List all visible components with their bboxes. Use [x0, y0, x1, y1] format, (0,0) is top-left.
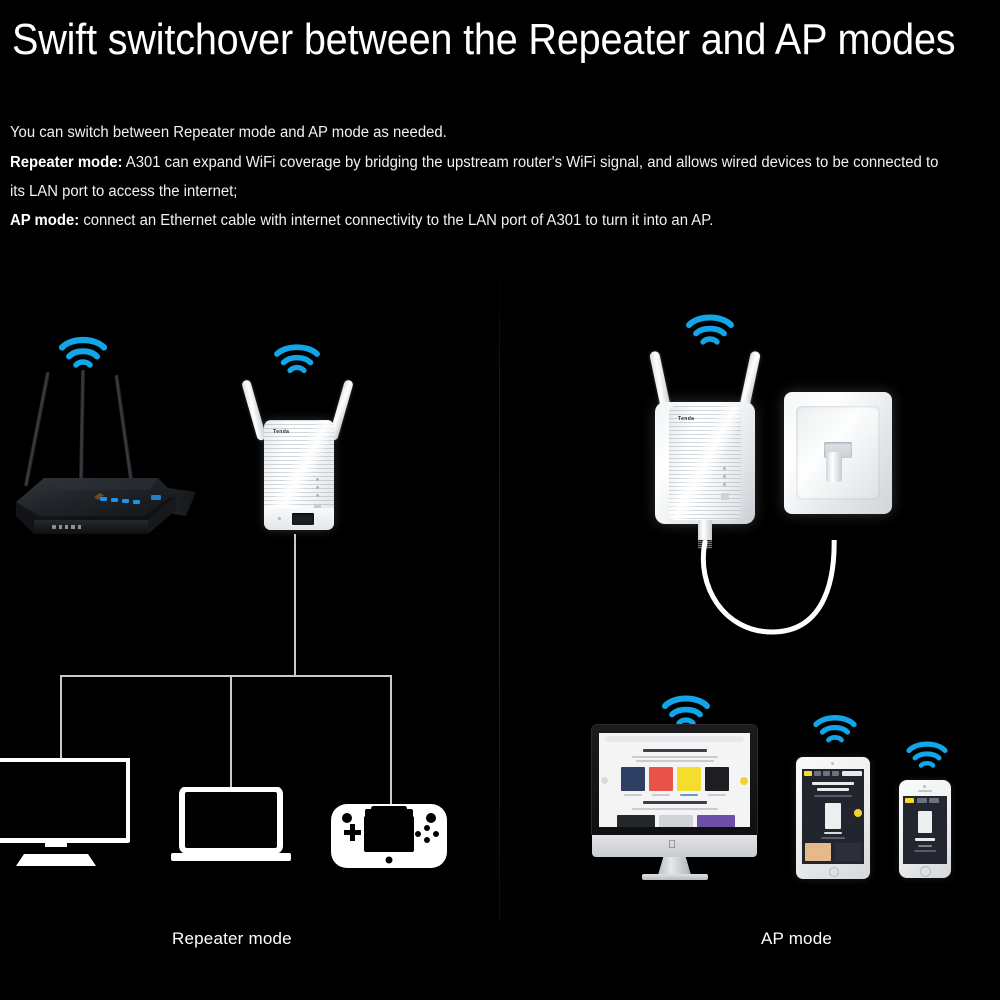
- tablet-icon: [796, 757, 870, 879]
- repeater-led-3: [723, 483, 726, 486]
- carousel-arrow-left: [601, 777, 608, 784]
- ethernet-cable: [660, 540, 880, 655]
- thumbnail: [649, 767, 673, 791]
- repeater-brand-logo: Tenda: [678, 416, 694, 422]
- thumbnail: [621, 767, 645, 791]
- thumbnail: [677, 767, 701, 791]
- tablet-screen: [802, 769, 864, 864]
- repeater-power-led: [278, 517, 281, 520]
- phone-screen: [903, 796, 947, 864]
- imac-screen: [599, 733, 750, 827]
- socket-plug-head: [826, 452, 842, 482]
- repeater-mode-caption: Repeater mode: [172, 929, 292, 949]
- a301-repeater: Tenda: [244, 378, 354, 538]
- router-body: [8, 464, 203, 540]
- connection-line-to-monitor: [60, 675, 62, 761]
- intro-line: You can switch between Repeater mode and…: [10, 118, 951, 148]
- laptop-icon: [170, 787, 292, 865]
- ap-mode-paragraph: AP mode: connect an Ethernet cable with …: [10, 206, 951, 236]
- repeater-led-3: [316, 494, 319, 497]
- connection-line-trunk: [294, 534, 296, 676]
- repeater-antenna-left: [241, 379, 267, 441]
- wifi-icon: [684, 308, 736, 350]
- monitor-icon: [0, 758, 130, 868]
- repeater-brand-logo: Tenda: [273, 429, 289, 435]
- ap-mode-label: AP mode:: [10, 212, 79, 229]
- phone-camera: [923, 785, 926, 788]
- connection-line-bus: [60, 675, 392, 677]
- panel-divider: [499, 262, 500, 922]
- wifi-icon: [905, 737, 949, 771]
- repeater-mode-label: Repeater mode:: [10, 154, 122, 171]
- product-image: [825, 803, 841, 829]
- product-image: [918, 811, 932, 833]
- repeater-led-2: [316, 486, 319, 489]
- repeater-highlight: [669, 406, 741, 520]
- wifi-icon: [272, 338, 322, 378]
- tablet-camera: [831, 762, 834, 765]
- game-console-icon: [330, 803, 448, 869]
- ap-mode-text: connect an Ethernet cable with internet …: [79, 212, 713, 229]
- imac-icon: : [592, 725, 757, 870]
- phone-home-button[interactable]: [920, 866, 931, 877]
- repeater-mode-text: A301 can expand WiFi coverage by bridgin…: [10, 154, 938, 200]
- apple-logo-icon: : [668, 840, 676, 851]
- repeater-led-1: [723, 467, 726, 470]
- page-title: Swift switchover between the Repeater an…: [12, 14, 894, 66]
- repeater-lan-port: [292, 513, 314, 525]
- ap-mode-caption: AP mode: [761, 929, 832, 949]
- cta-badge: [854, 809, 862, 817]
- repeater-reset-button[interactable]: [721, 493, 729, 500]
- a301-repeater: Tenda: [645, 350, 765, 530]
- repeater-body: Tenda: [264, 420, 334, 530]
- description-block: You can switch between Repeater mode and…: [10, 118, 990, 236]
- repeater-mode-paragraph: Repeater mode: A301 can expand WiFi cove…: [10, 148, 951, 206]
- wifi-icon: [812, 710, 858, 746]
- tablet-home-button[interactable]: [829, 867, 839, 877]
- repeater-body: Tenda: [669, 406, 741, 520]
- carousel-arrow-right: [740, 777, 748, 785]
- wifi-icon: [660, 690, 712, 730]
- connection-line-to-laptop: [230, 675, 232, 791]
- infographic-page: Swift switchover between the Repeater an…: [0, 0, 1000, 1000]
- smartphone-icon: [899, 780, 951, 878]
- imac-stand-neck: [658, 857, 691, 875]
- repeater-led-2: [723, 475, 726, 478]
- connection-line-to-console: [390, 675, 392, 807]
- thumbnail: [705, 767, 729, 791]
- upstream-router: [8, 368, 203, 540]
- imac-stand-foot: [642, 874, 708, 880]
- repeater-led-1: [316, 478, 319, 481]
